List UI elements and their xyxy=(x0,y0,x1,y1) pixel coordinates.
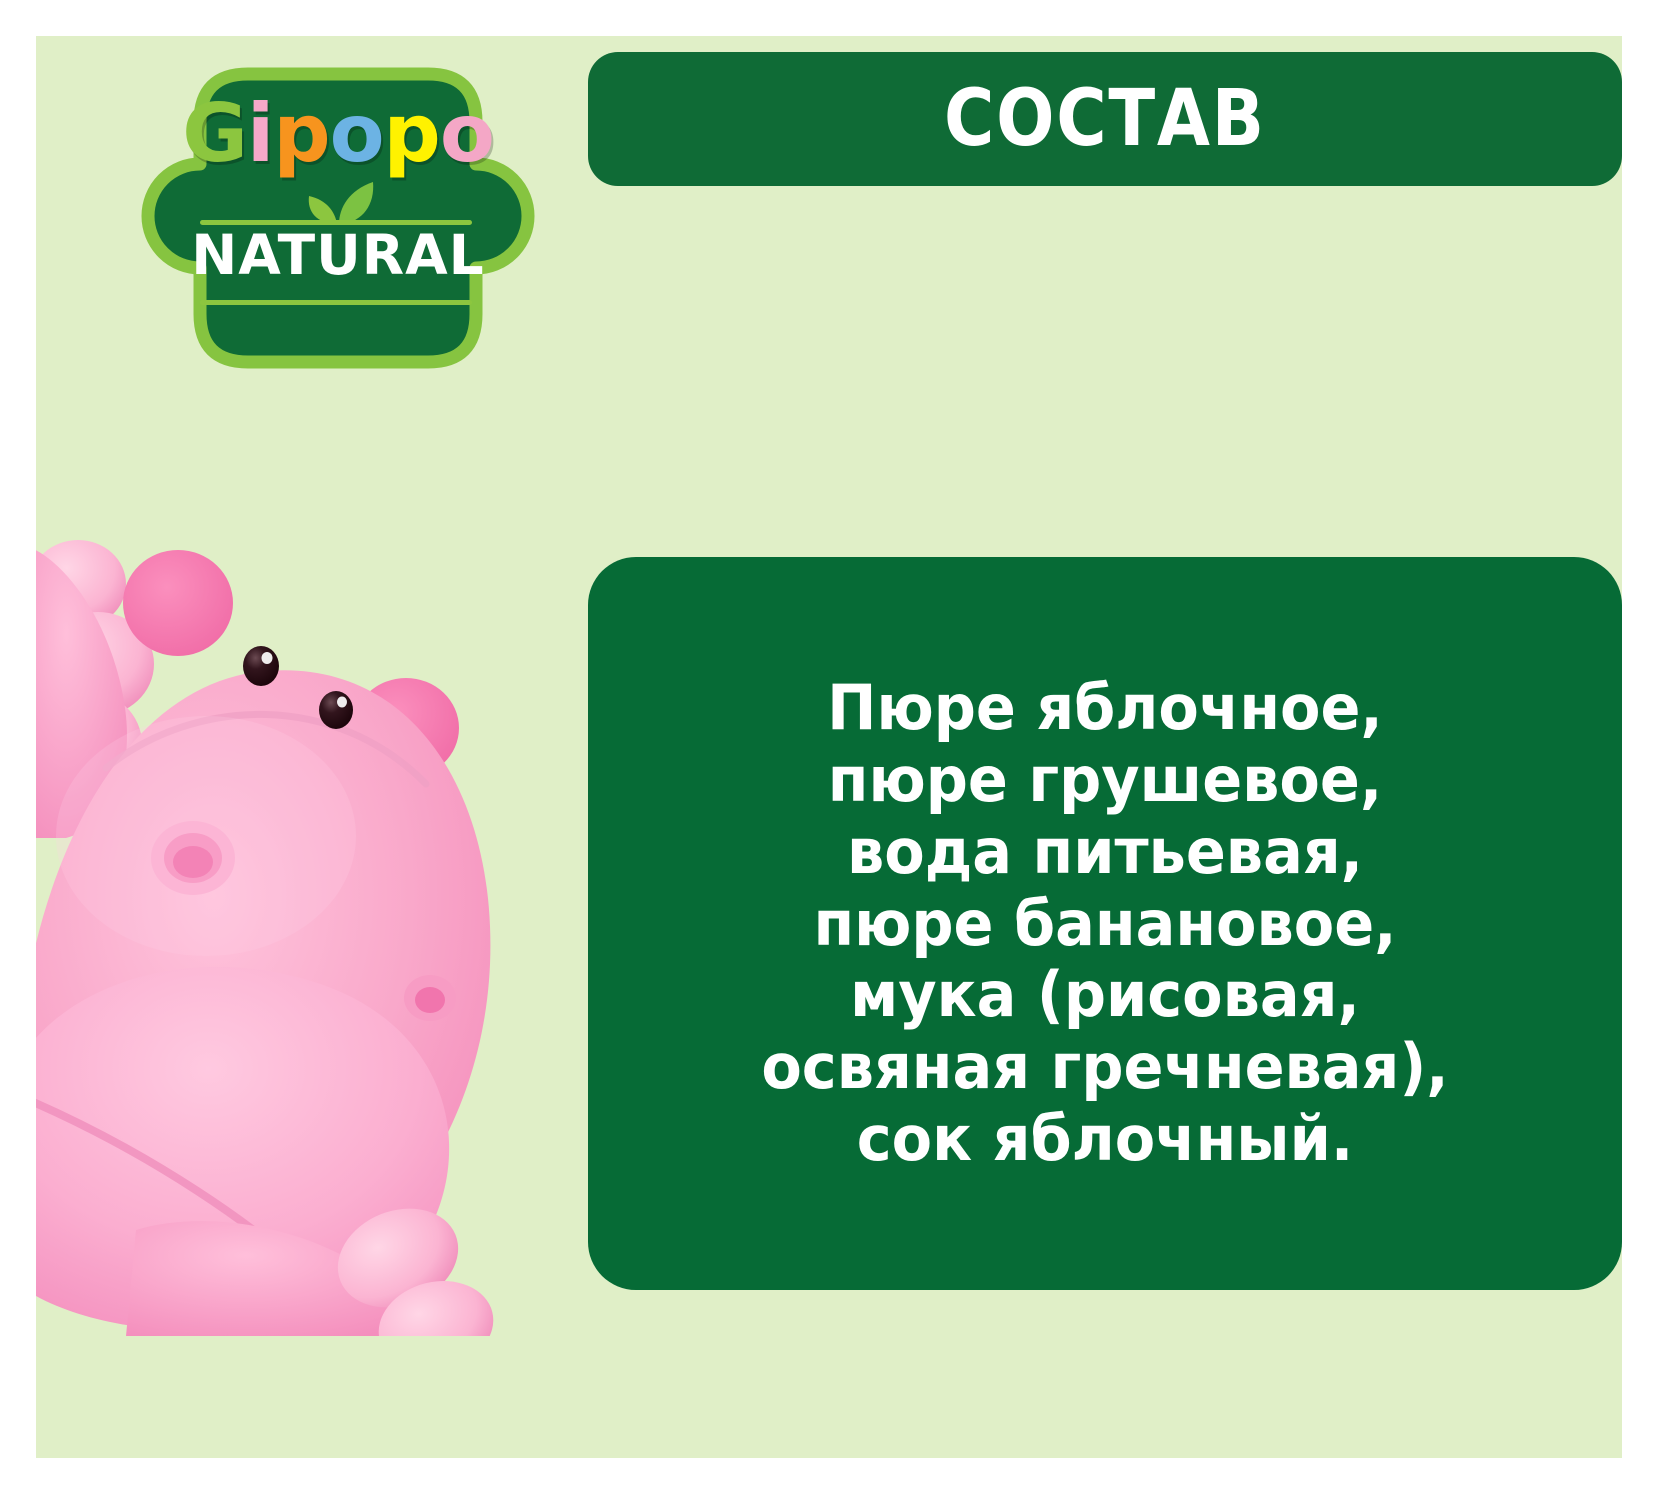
ingredient-line: мука (рисовая, xyxy=(614,959,1596,1031)
ingredient-line: Пюре яблочное, xyxy=(614,672,1596,744)
ingredient-line: пюре банановое, xyxy=(614,888,1596,960)
ingredient-line: сок яблочный. xyxy=(614,1103,1596,1175)
page-title: СОСТАВ xyxy=(944,80,1266,158)
screenshot-canvas: Gipopo NATURAL СОСТАВ Пюре яблочное, xyxy=(0,0,1663,1495)
hippo-nostril-lower-icon xyxy=(404,975,456,1021)
section-header-banner: СОСТАВ xyxy=(588,52,1622,186)
product-info-board: Gipopo NATURAL СОСТАВ Пюре яблочное, xyxy=(36,36,1622,1458)
ingredients-text: Пюре яблочное, пюре грушевое, вода питье… xyxy=(614,672,1596,1175)
ingredient-line: пюре грушевое, xyxy=(614,744,1596,816)
hippo-highlight xyxy=(56,716,356,956)
hippo-ear-left-icon xyxy=(123,550,233,656)
ingredient-line: освяная гречневая), xyxy=(614,1031,1596,1103)
logo-puzzle-badge-icon xyxy=(128,52,548,392)
pink-hippo-character xyxy=(36,506,526,1336)
hippo-eye-left-icon xyxy=(243,646,279,686)
ingredients-panel: Пюре яблочное, пюре грушевое, вода питье… xyxy=(588,557,1622,1290)
hippo-eye-right-icon xyxy=(319,691,353,729)
brand-logo[interactable]: Gipopo NATURAL xyxy=(128,52,548,392)
ingredient-line: вода питьевая, xyxy=(614,816,1596,888)
